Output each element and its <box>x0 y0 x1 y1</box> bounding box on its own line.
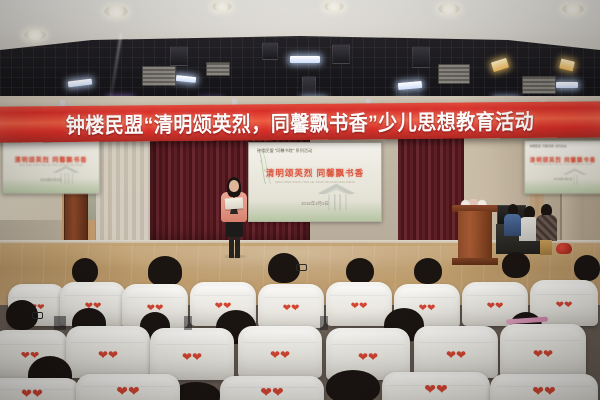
slide-subtitle-text: QING MING SONG YING LIE TONG XIN PIAO SH… <box>525 164 600 166</box>
slide-title-text: 清明颂英烈 同馨飘书香 <box>3 155 99 164</box>
slide-header-text: 钟楼民盟 “同馨书院” 系列活动 <box>530 144 597 148</box>
audience-head <box>502 252 530 278</box>
stage-light-housing <box>412 46 430 68</box>
left-side-screen: 钟楼民盟 “同馨书院” 系列活动 清明颂英烈 同馨飘书香 QING MING S… <box>2 134 100 194</box>
seat[interactable]: ❤❤ <box>382 372 490 400</box>
downlight <box>324 2 344 11</box>
seat-heart-logo: ❤❤ <box>532 384 555 398</box>
seat[interactable]: ❤❤ <box>0 378 80 400</box>
seat[interactable]: ❤❤ <box>500 324 586 378</box>
downlight <box>24 30 46 40</box>
slide-subtitle-text: QING MING SONG YING LIE TONG XIN PIAO SH… <box>3 164 99 167</box>
audience-glasses <box>32 312 43 319</box>
ceiling-air-vent <box>438 64 470 84</box>
av-operator-body <box>536 215 557 241</box>
downlight <box>562 4 584 14</box>
speaker-head <box>229 180 239 192</box>
seat-heart-logo: ❤❤ <box>270 349 290 361</box>
audience-head <box>346 258 374 284</box>
audience-head <box>414 258 442 284</box>
speaker-legs <box>229 236 240 258</box>
stool <box>540 240 552 255</box>
seat[interactable]: ❤❤ <box>258 284 324 328</box>
seat-heart-logo: ❤❤ <box>358 351 378 363</box>
stage-light <box>290 56 320 63</box>
seat-heart-logo: ❤❤ <box>21 387 43 400</box>
seat-heart-logo: ❤❤ <box>116 384 139 398</box>
audience-head <box>574 255 600 281</box>
stage-light <box>556 82 578 88</box>
seat-heart-logo: ❤❤ <box>351 302 368 312</box>
seat[interactable]: ❤❤ <box>414 326 498 378</box>
red-bag <box>556 243 572 254</box>
slide-date-text: 2015年4月2日 <box>3 177 99 182</box>
seat-gap <box>184 316 192 330</box>
seat-heart-logo: ❤❤ <box>283 304 300 314</box>
podium-base <box>452 258 498 265</box>
seat-heart-logo: ❤❤ <box>446 349 466 361</box>
right-side-screen: 钟楼民盟 “同馨书院” 系列活动 清明颂英烈 同馨飘书香 QING MING S… <box>524 140 600 194</box>
center-main-screen: 钟楼民盟 “同馨书院” 系列活动 清明颂英烈 同馨飘书香 QING MING S… <box>248 142 382 222</box>
ceiling-air-vent <box>142 66 176 86</box>
seat-heart-logo: ❤❤ <box>182 351 202 363</box>
seat-heart-logo: ❤❤ <box>260 385 283 399</box>
event-banner: 钟楼民盟“清明颂英烈，同馨飘书香”少儿思想教育活动 <box>0 101 600 142</box>
wooden-podium <box>458 211 492 260</box>
downlight <box>212 2 232 11</box>
seat[interactable]: ❤❤ <box>220 376 324 400</box>
speaker-script-papers <box>225 197 244 209</box>
stage-light-housing <box>332 44 350 64</box>
seat-heart-logo: ❤❤ <box>424 382 447 396</box>
seat-gap <box>54 316 66 330</box>
slide-date-text: 2015年4月2日 <box>249 201 381 207</box>
ceiling-air-vent <box>206 62 230 76</box>
seat[interactable]: ❤❤ <box>326 282 392 326</box>
stage-light-housing <box>170 46 188 66</box>
av-operator-body <box>504 214 521 236</box>
stage-curtain-left <box>96 128 152 254</box>
auditorium-photo: 钟楼民盟 “同馨书院” 系列活动 清明颂英烈 同馨飘书香 QING MING S… <box>0 0 600 400</box>
audience-glasses <box>296 264 307 271</box>
seat[interactable]: ❤❤ <box>490 374 598 400</box>
slide-date-text: 2015年4月2日 <box>525 177 600 181</box>
slide-subtitle-text: QING MING SONG YING LIE TONG XIN PIAO SH… <box>249 180 381 184</box>
seat[interactable]: ❤❤ <box>76 374 180 400</box>
slide-header-text: 钟楼民盟 “同馨书院” 系列活动 <box>257 148 373 154</box>
seat[interactable]: ❤❤ <box>150 328 234 380</box>
ceiling-panel <box>0 0 600 40</box>
seat-heart-logo: ❤❤ <box>487 302 504 312</box>
stage-light-housing <box>262 42 278 60</box>
slide-title-text: 清明颂英烈 同馨飘书香 <box>249 167 381 179</box>
audience-head <box>72 258 98 284</box>
seat-heart-logo: ❤❤ <box>419 304 436 314</box>
downlight <box>438 4 460 14</box>
pavilion-illustration <box>302 180 371 216</box>
seat-heart-logo: ❤❤ <box>533 348 553 360</box>
ceiling-air-vent <box>522 76 556 94</box>
audience-head <box>148 256 182 286</box>
banner-text: 钟楼民盟“清明颂英烈，同馨飘书香”少儿思想教育活动 <box>66 105 535 139</box>
seat-heart-logo: ❤❤ <box>98 349 118 361</box>
seat[interactable]: ❤❤ <box>238 326 322 378</box>
seat-heart-logo: ❤❤ <box>556 301 573 311</box>
stage-curtain-right <box>398 128 464 256</box>
slide-title-text: 清明颂英烈 同馨飘书香 <box>525 156 600 164</box>
audience-head <box>326 370 380 400</box>
downlight <box>104 6 128 17</box>
seat[interactable]: ❤❤ <box>66 326 150 378</box>
seat-gap <box>320 316 328 330</box>
